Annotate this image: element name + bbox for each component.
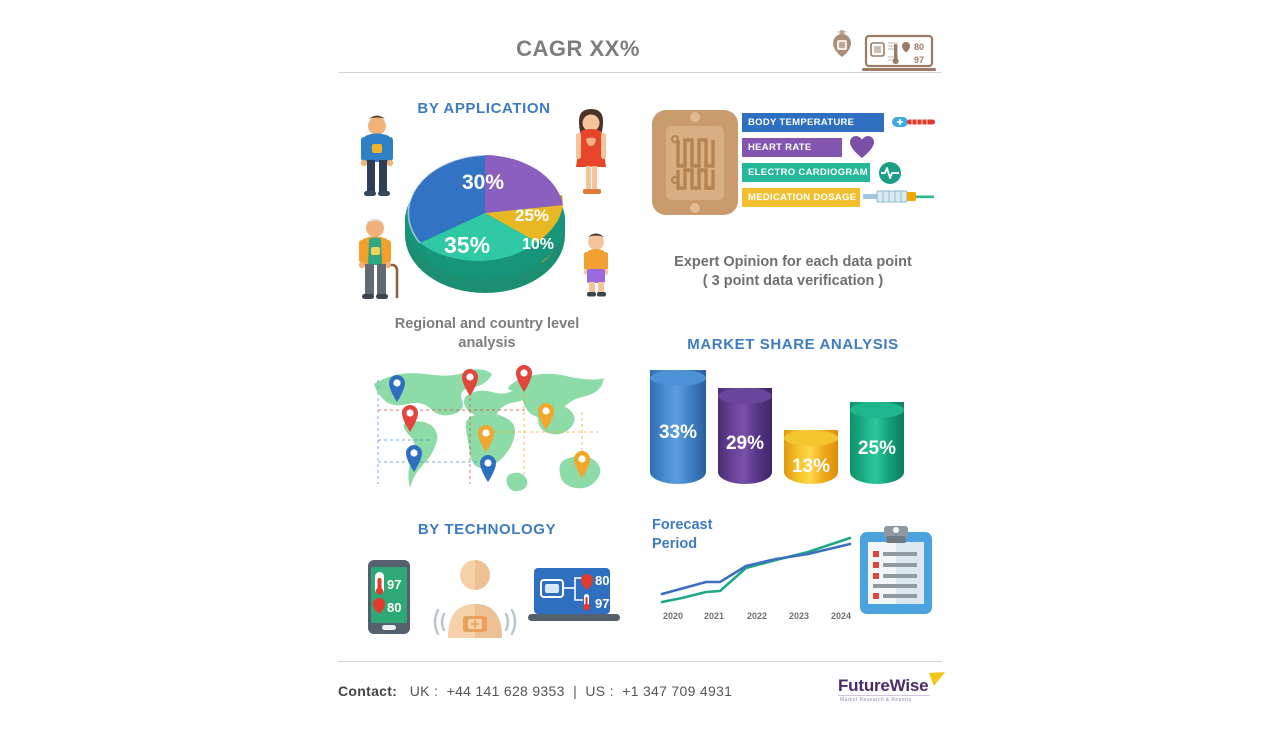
- technology-devices: 97 80: [368, 558, 616, 638]
- forecast-year-2021: 2021: [693, 611, 735, 621]
- sensor-chip-inner: [666, 126, 724, 200]
- pie-label-2: 10%: [522, 236, 554, 253]
- sensor-label-heart-rate: HEART RATE: [742, 138, 812, 157]
- contact-separator: |: [573, 683, 577, 699]
- adult-woman-figure: [567, 109, 615, 201]
- elderly-man-figure: [352, 215, 402, 307]
- uk-phone: +44 141 628 9353: [447, 683, 565, 699]
- expert-opinion-line-2: ( 3 point data verification ): [648, 272, 938, 291]
- forecast-year-axis: 2020 2021 2022 2023 2024: [648, 611, 848, 627]
- logo-tagline: Market Research & Reports: [840, 697, 912, 703]
- market-share-value-0: 33%: [650, 422, 706, 444]
- page-title: CAGR XX%: [338, 36, 818, 62]
- expert-opinion-caption: Expert Opinion for each data point ( 3 p…: [648, 253, 938, 291]
- forecast-year-2020: 2020: [652, 611, 694, 621]
- syringe-icon: [863, 187, 935, 207]
- header: CAGR XX% 80: [338, 14, 942, 72]
- market-share-bar-0: 33%: [650, 370, 706, 490]
- uk-label: UK :: [410, 683, 438, 699]
- contact-label: Contact:: [338, 683, 397, 699]
- logo-divider: [838, 695, 930, 696]
- section-title-regional: Regional and country level analysis: [352, 315, 622, 353]
- expert-opinion-line-1: Expert Opinion for each data point: [648, 253, 938, 272]
- futurewise-logo[interactable]: FutureWise Market Research & Reports: [838, 676, 942, 706]
- world-map-graphic: [368, 362, 608, 512]
- market-share-bar-3: 25%: [850, 402, 904, 490]
- laptop-top-value: 80: [595, 573, 609, 588]
- signal-waves-right: [506, 610, 515, 634]
- heart-sensor-icon: [833, 30, 851, 57]
- us-phone: +1 347 709 4931: [622, 683, 732, 699]
- forecast-year-2024: 2024: [820, 611, 862, 621]
- smartphone-vitals-icon: 97 80: [368, 560, 410, 634]
- sensor-label-electro-cardiogram: ELECTRO CARDIOGRAM: [742, 163, 868, 182]
- header-laptop-top-value: 80: [914, 42, 924, 52]
- regional-title-line-2: analysis: [352, 334, 622, 353]
- logo-swoosh-icon: [928, 672, 946, 690]
- sensor-bar-electro-cardiogram: ELECTRO CARDIOGRAM: [742, 163, 870, 182]
- pie-label-3: 35%: [444, 232, 490, 258]
- forecast-panel: Forecast Period 2020 2021 2022 2023 2024: [648, 512, 938, 637]
- sensor-screw-top: [690, 112, 700, 122]
- header-watermark-icons: 80 97: [828, 30, 942, 76]
- section-title-market-share: MARKET SHARE ANALYSIS: [648, 336, 938, 353]
- pie-label-1: 25%: [515, 206, 549, 225]
- sensor-screw-bottom: [690, 203, 700, 213]
- forecast-series-green: [662, 538, 850, 602]
- section-title-by-technology: BY TECHNOLOGY: [352, 521, 622, 538]
- market-share-value-3: 25%: [850, 438, 904, 460]
- sensor-bar-heart-rate: HEART RATE: [742, 138, 842, 157]
- sensor-bar-medication-dosage: MEDICATION DOSAGE: [742, 188, 860, 207]
- market-share-value-1: 29%: [718, 433, 772, 455]
- market-share-bar-2: 13%: [784, 430, 838, 490]
- market-share-bar-1: 29%: [718, 388, 772, 490]
- forecast-year-2023: 2023: [778, 611, 820, 621]
- forecast-year-2022: 2022: [736, 611, 778, 621]
- adult-man-figure: [352, 113, 402, 203]
- header-divider: [338, 72, 942, 73]
- phone-bottom-value: 80: [387, 600, 401, 615]
- contact-line: Contact: UK : +44 141 628 9353 | US : +1…: [338, 683, 732, 699]
- heart-icon: [850, 136, 874, 159]
- signal-waves-left: [435, 610, 444, 634]
- clipboard-checklist-icon: [860, 526, 932, 614]
- sensor-bar-body-temperature: BODY TEMPERATURE: [742, 113, 884, 132]
- by-application-panel: 30% 25% 10% 35%: [352, 95, 616, 310]
- forecast-series-blue: [662, 544, 850, 594]
- market-share-chart: 33% 29% 13% 25%: [648, 365, 938, 490]
- laptop-vitals-icon: 80 97: [862, 36, 936, 71]
- map-pin-blue-3: [480, 455, 496, 482]
- sensor-chip-graphic: [652, 110, 738, 215]
- footer-divider: [338, 661, 942, 662]
- market-share-value-2: 13%: [784, 456, 838, 478]
- sensor-label-body-temperature: BODY TEMPERATURE: [742, 113, 854, 132]
- header-laptop-bottom-value: 97: [914, 55, 924, 65]
- regional-title-line-1: Regional and country level: [352, 315, 622, 334]
- us-label: US :: [585, 683, 613, 699]
- child-boy-figure: [577, 230, 615, 302]
- application-pie-chart: 30% 25% 10% 35%: [402, 125, 568, 300]
- laptop-vitals-icon: 80 97: [528, 568, 620, 626]
- body-sensor-icon: [430, 558, 520, 638]
- logo-wordmark: FutureWise: [838, 676, 928, 696]
- sensor-panel: BODY TEMPERATURE HEART RATE ELECTRO CARD…: [648, 105, 938, 220]
- ecg-pulse-icon: [878, 161, 902, 185]
- phone-top-value: 97: [387, 577, 401, 592]
- laptop-bottom-value: 97: [595, 596, 609, 611]
- infographic-page: CAGR XX% 80: [0, 0, 1280, 731]
- pie-label-0: 30%: [462, 171, 504, 194]
- thermometer-icon: [892, 114, 938, 130]
- sensor-label-medication-dosage: MEDICATION DOSAGE: [742, 188, 856, 207]
- forecast-line-chart: [658, 532, 858, 612]
